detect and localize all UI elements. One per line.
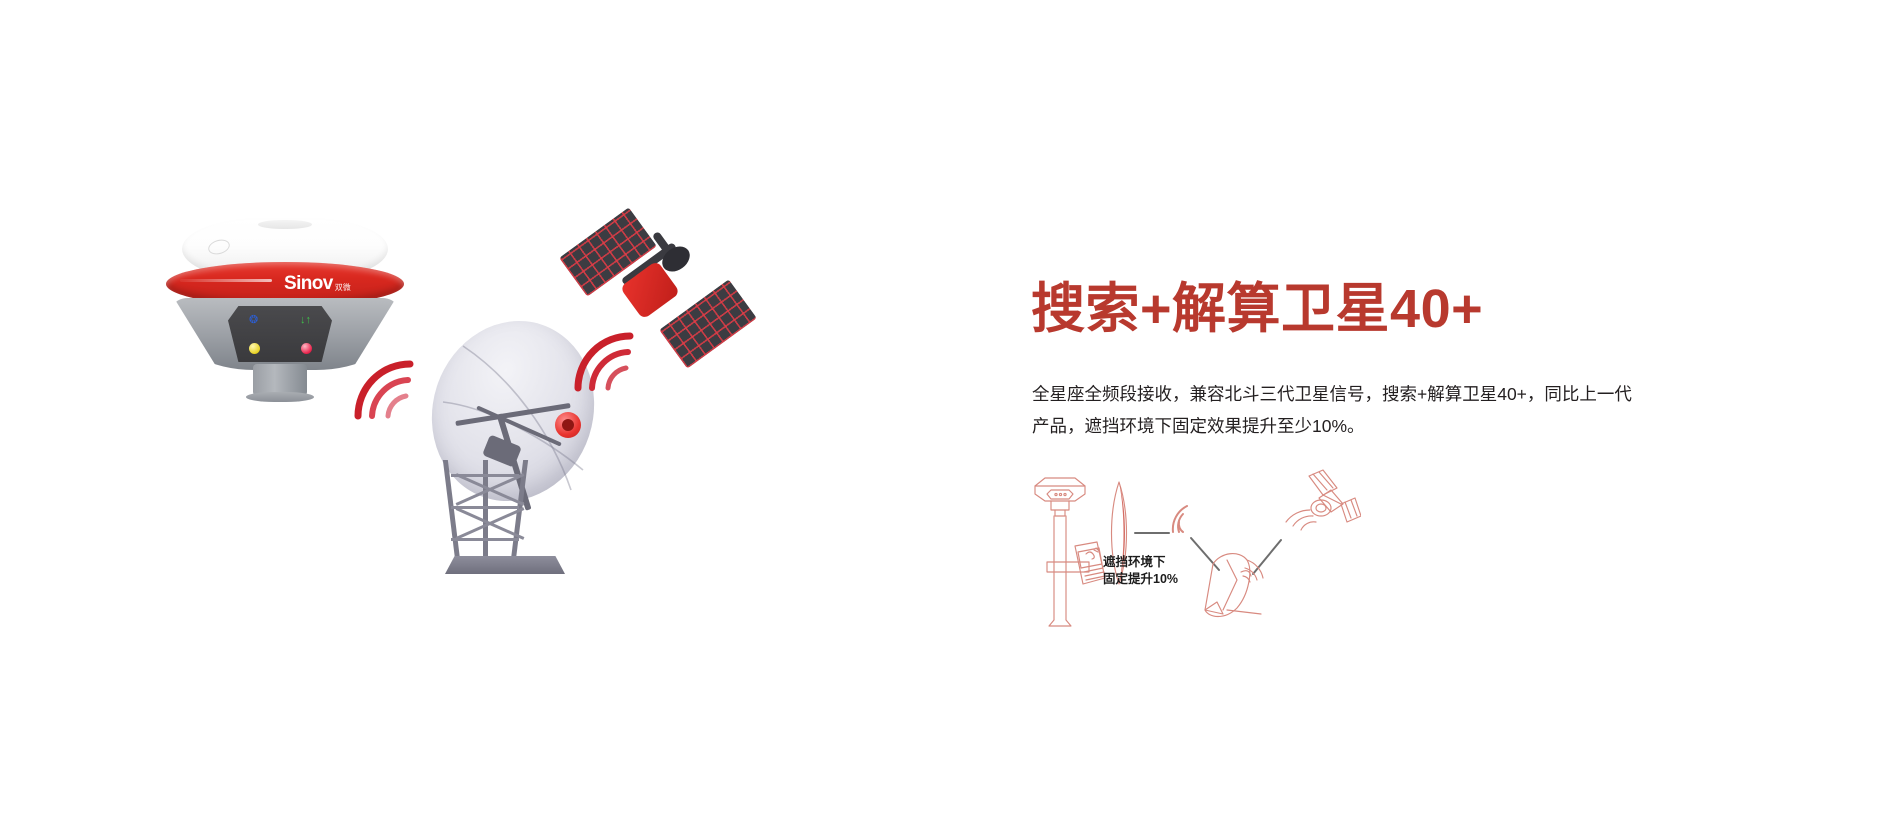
system-diagram: 遮挡环境下 固定提升10% [1031,468,1361,638]
satellite-signal-waves [568,332,638,402]
data-transfer-icon: ↓↑ [300,315,311,326]
tower-brace-3 [451,538,519,541]
diagram-wave-glyphs [1173,506,1187,532]
receiver-mount-base [246,392,314,402]
yellow-led-icon [249,343,260,354]
satellite-icon: ❂ [249,315,258,326]
receiver-control-panel: ❂ ↓↑ [228,306,332,362]
product-illustration-group: Sinov 双微 ❂ ↓↑ [0,0,940,833]
panel-row-icons: ❂ ↓↑ [228,306,332,334]
feature-description: 全星座全频段接收，兼容北斗三代卫星信号，搜索+解算卫星40+，同比上一代产品，遮… [1032,378,1642,443]
receiver-signal-waves [348,360,418,430]
diagram-caption: 遮挡环境下 固定提升10% [1103,554,1178,588]
brand-wordmark: Sinov [284,274,333,293]
page-title: 搜索+解算卫星40+ [1031,282,1483,336]
receiver-top-nub [258,220,312,229]
receiver-brand-logo: Sinov 双微 [284,274,351,293]
feature-banner: Sinov 双微 ❂ ↓↑ [0,0,1901,833]
receiver-band-gloss [180,279,272,282]
diagram-linework [1031,468,1361,638]
tower-concrete-base [445,556,565,574]
brand-chinese-name: 双微 [335,284,351,293]
receiver-top-dimple [206,237,231,257]
dish-support-tower [443,460,539,570]
text-content-column: 搜索+解算卫星40+ 全星座全频段接收，兼容北斗三代卫星信号，搜索+解算卫星40… [1031,0,1731,833]
dish-feed-core [562,419,574,431]
red-led-icon [301,343,312,354]
panel-row-leds [228,334,332,362]
